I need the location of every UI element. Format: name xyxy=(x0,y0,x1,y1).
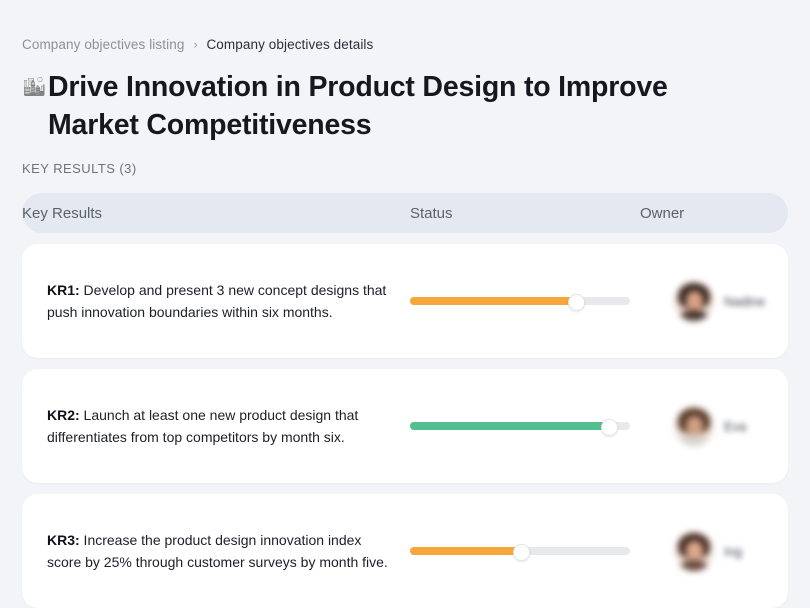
progress-slider[interactable] xyxy=(410,297,630,305)
progress-slider[interactable] xyxy=(410,547,630,555)
key-results-section-label: KEY RESULTS (3) xyxy=(22,161,788,176)
status-cell xyxy=(410,422,640,430)
owner-name: Nadine xyxy=(724,294,765,309)
breadcrumb: Company objectives listing › Company obj… xyxy=(22,0,788,52)
owner-name: Ing xyxy=(724,544,742,559)
key-result-description: Develop and present 3 new concept design… xyxy=(47,282,386,320)
status-cell xyxy=(410,547,640,555)
progress-knob[interactable] xyxy=(513,544,530,561)
owner-cell[interactable]: Nadine xyxy=(640,281,788,321)
avatar xyxy=(674,281,714,321)
status-cell xyxy=(410,297,640,305)
column-header-key-results: Key Results xyxy=(22,205,410,222)
avatar xyxy=(674,531,714,571)
column-header-status: Status xyxy=(410,205,640,222)
progress-knob[interactable] xyxy=(601,419,618,436)
key-result-description: Launch at least one new product design t… xyxy=(47,407,358,445)
key-result-text: KR1: Develop and present 3 new concept d… xyxy=(22,279,410,323)
avatar xyxy=(674,406,714,446)
progress-slider[interactable] xyxy=(410,422,630,430)
table-row[interactable]: KR1: Develop and present 3 new concept d… xyxy=(22,244,788,358)
progress-fill xyxy=(410,547,520,555)
key-result-text: KR3: Increase the product design innovat… xyxy=(22,529,410,573)
progress-fill xyxy=(410,422,608,430)
key-result-id: KR1: xyxy=(47,282,80,298)
breadcrumb-current-details: Company objectives details xyxy=(206,38,373,52)
owner-cell[interactable]: Ing xyxy=(640,531,788,571)
progress-fill xyxy=(410,297,575,305)
breadcrumb-link-listing[interactable]: Company objectives listing xyxy=(22,38,184,52)
cityscape-icon: 🏙 xyxy=(22,68,48,102)
page-title-row: 🏙 Drive Innovation in Product Design to … xyxy=(22,68,788,145)
key-result-id: KR2: xyxy=(47,407,80,423)
objective-details-page: Company objectives listing › Company obj… xyxy=(0,0,810,546)
key-result-description: Increase the product design innovation i… xyxy=(47,532,388,570)
table-row[interactable]: KR2: Launch at least one new product des… xyxy=(22,369,788,483)
table-row[interactable]: KR3: Increase the product design innovat… xyxy=(22,494,788,608)
table-header-row: Key Results Status Owner xyxy=(22,193,788,233)
chevron-right-icon: › xyxy=(193,38,197,50)
key-result-text: KR2: Launch at least one new product des… xyxy=(22,404,410,448)
progress-knob[interactable] xyxy=(568,294,585,311)
page-title: Drive Innovation in Product Design to Im… xyxy=(48,68,708,145)
owner-cell[interactable]: Eva xyxy=(640,406,788,446)
column-header-owner: Owner xyxy=(640,205,788,222)
owner-name: Eva xyxy=(724,419,746,434)
